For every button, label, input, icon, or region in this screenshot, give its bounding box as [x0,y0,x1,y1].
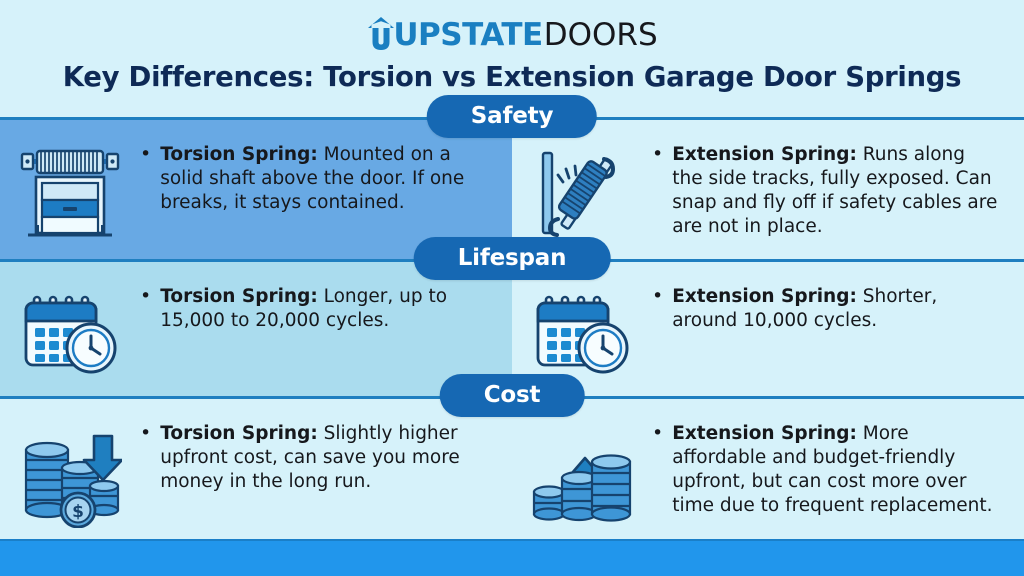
bullet-glyph: • [140,143,151,166]
bullet-glyph: • [140,285,151,308]
calendar-clock-icon [0,285,140,377]
bullet-label: Torsion Spring: [160,423,318,444]
section-badge-lifespan: Lifespan [414,237,611,280]
bullet-extension-lifespan: • Extension Spring: Shorter, around 10,0… [652,285,1024,333]
bullet-label: Extension Spring: [672,423,857,444]
coin-stacks-up-arrow-icon [512,422,652,528]
bullet-label: Extension Spring: [672,144,857,165]
section-badge-safety: Safety [427,95,597,138]
bullet-extension-safety: • Extension Spring: Runs along the side … [652,143,1024,239]
page-title: Key Differences: Torsion vs Extension Ga… [0,61,1024,93]
column-torsion: $ • Torsion Spring: Slightly higher upfr… [0,422,512,539]
bullet-glyph: • [652,285,663,308]
column-extension: • Extension Spring: Shorter, around 10,0… [512,285,1024,396]
brand-logo: UPSTATE DOORS [0,0,1024,52]
bottom-accent-bar [0,539,1024,576]
logo-text-upstate: UPSTATE [393,20,542,51]
svg-text:$: $ [72,502,84,522]
section-cost: Cost [0,396,1024,539]
section-badge-cost: Cost [440,374,585,417]
house-roof-icon [366,15,396,55]
column-extension: • Extension Spring: More affordable and … [512,422,1024,539]
broken-extension-spring-icon [512,143,652,242]
bullet-extension-cost: • Extension Spring: More affordable and … [652,422,1024,518]
bullet-torsion-cost: • Torsion Spring: Slightly higher upfron… [140,422,512,494]
bullet-torsion-lifespan: • Torsion Spring: Longer, up to 15,000 t… [140,285,512,333]
logo-text-doors: DOORS [544,20,658,51]
bullet-label: Torsion Spring: [160,286,318,307]
bullet-glyph: • [652,422,663,445]
section-row: $ • Torsion Spring: Slightly higher upfr… [0,396,1024,539]
bullet-glyph: • [140,422,151,445]
bullet-torsion-safety: • Torsion Spring: Mounted on a solid sha… [140,143,512,215]
bullet-label: Extension Spring: [672,286,857,307]
coin-stacks-down-arrow-icon: $ [0,422,140,528]
column-torsion: • Torsion Spring: Longer, up to 15,000 t… [0,285,512,396]
bullet-glyph: • [652,143,663,166]
garage-door-torsion-spring-icon [0,143,140,242]
calendar-clock-icon [512,285,652,377]
bullet-label: Torsion Spring: [160,144,318,165]
